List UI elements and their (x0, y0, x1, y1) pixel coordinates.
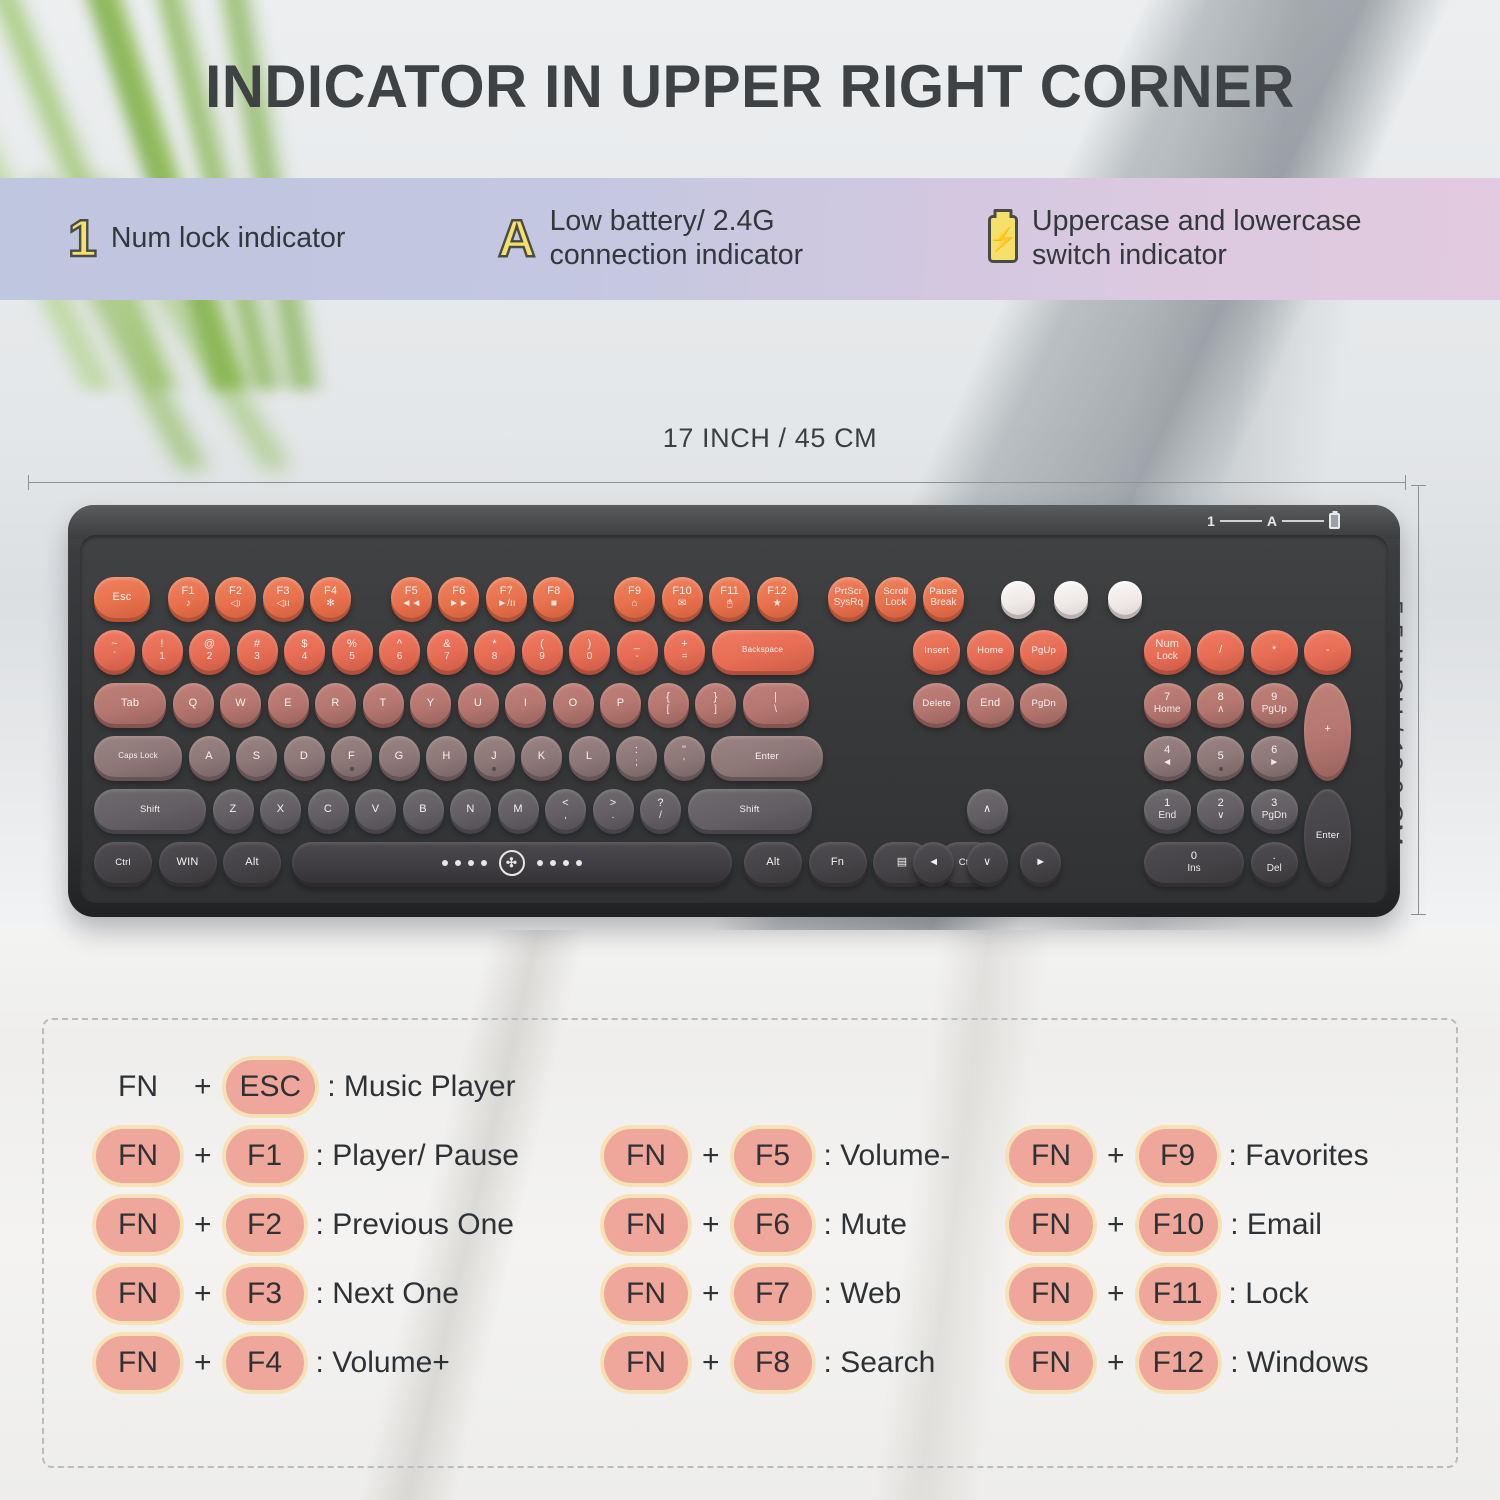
key-label: Z (230, 804, 237, 816)
legend-target-key: F5 (734, 1129, 812, 1183)
key-delete[interactable]: Delete (913, 683, 960, 724)
legend-fn-key: FN (604, 1267, 688, 1321)
legend-plus-sign: + (702, 1346, 720, 1380)
key-label: 8 (1218, 692, 1224, 704)
key-label: + (681, 639, 688, 651)
key-c[interactable]: C (308, 789, 349, 830)
legend-fn-key: FN (1009, 1129, 1093, 1183)
key-label: H (442, 751, 450, 763)
key-sublabel: ►► (449, 599, 469, 610)
key-m[interactable]: M (498, 789, 539, 830)
key-5[interactable]: 5 (1197, 736, 1244, 777)
key-label: G (395, 751, 404, 763)
key-label: Pause (929, 587, 957, 597)
legend-fn-key: FN (96, 1060, 180, 1114)
key-[interactable]: >. (593, 789, 634, 830)
key-v[interactable]: V (355, 789, 396, 830)
letter-a-icon: A (498, 213, 536, 265)
legend-description: : Lock (1229, 1277, 1309, 1311)
indicator-battery-line1: Low battery/ 2.4G (550, 205, 804, 239)
legend-target-key: F7 (734, 1267, 812, 1321)
key-sublabel: 9 (539, 652, 545, 663)
legend-column-2: FN+F5: Volume-FN+F6: MuteFN+F7: WebFN+F8… (604, 1121, 950, 1397)
key-label: Num (1155, 639, 1179, 651)
key-k[interactable]: K (521, 736, 562, 777)
legend-target-key: ESC (226, 1060, 316, 1114)
key-label: < (562, 798, 569, 810)
key-label: : (635, 745, 638, 757)
key-home[interactable]: Home (967, 630, 1014, 671)
key-label: ! (160, 639, 163, 651)
key-[interactable]: "' (664, 736, 705, 777)
key-label: ~ (111, 639, 118, 651)
key-caps-lock[interactable]: Caps Lock (94, 736, 182, 777)
key-sublabel: , (564, 811, 567, 822)
key-f8[interactable]: F8■ (533, 577, 574, 618)
key-x[interactable]: X (260, 789, 301, 830)
marking-battery-icon (1329, 513, 1340, 529)
key-label: M (513, 804, 522, 816)
key-label: 6 (1271, 745, 1277, 757)
key-[interactable]: |\ (743, 683, 809, 724)
legend-plus-sign: + (194, 1277, 212, 1311)
legend-plus-sign: + (194, 1346, 212, 1380)
indicator-battery-label: Low battery/ 2.4G connection indicator (550, 205, 804, 272)
legend-description: : Favorites (1229, 1139, 1369, 1173)
key-label: L (586, 751, 592, 763)
key-[interactable]: )0 (569, 630, 610, 671)
key-[interactable]: &7 (427, 630, 468, 671)
key-enter[interactable]: Enter (1304, 789, 1351, 883)
key-label: F4 (324, 586, 337, 598)
key-f12[interactable]: F12★ (757, 577, 798, 618)
key-label: ^ (397, 639, 402, 651)
key-[interactable]: .Del (1251, 842, 1298, 883)
key-sublabel: [ (667, 705, 670, 716)
key-fn[interactable]: Fn (809, 842, 867, 883)
legend-row: FN+F6: Mute (604, 1190, 950, 1259)
key-f1[interactable]: F1♪ (168, 577, 209, 618)
key-prtscr[interactable]: PrtScrSysRq (828, 577, 869, 618)
legend-target-key: F8 (734, 1336, 812, 1390)
key-label: ► (1035, 857, 1046, 869)
key-label: ∧ (983, 804, 991, 816)
legend-description: : Mute (824, 1208, 907, 1242)
key-label: Shift (140, 805, 160, 815)
key-p[interactable]: P (600, 683, 641, 724)
legend-plus-sign: + (702, 1139, 720, 1173)
key-pause[interactable]: PauseBreak (923, 577, 964, 618)
indicator-led-3 (1108, 581, 1142, 615)
key-sublabel: ◄◄ (401, 599, 421, 610)
legend-target-key: F1 (226, 1129, 304, 1183)
key-sublabel: PgUp (1262, 705, 1287, 716)
key-win[interactable]: WIN (159, 842, 217, 883)
key-label: K (538, 751, 546, 763)
key-label: Shift (739, 805, 759, 815)
key-[interactable]: <, (545, 789, 586, 830)
legend-column-3: FN+F9: FavoritesFN+F10: EmailFN+F11: Loc… (1009, 1121, 1369, 1397)
legend-fn-key: FN (1009, 1336, 1093, 1390)
width-dimension-line (28, 482, 1406, 483)
key-8[interactable]: 8∧ (1197, 683, 1244, 724)
key-label: Ctrl (115, 858, 131, 868)
key-label: 3 (1271, 798, 1277, 810)
key-sublabel: End (1158, 811, 1176, 822)
key-sublabel: ; (635, 758, 638, 769)
key-sublabel: ] (714, 705, 717, 716)
key-sublabel: ■ (551, 599, 557, 610)
key-label: 4 (1164, 745, 1170, 757)
key-esc[interactable]: Esc (94, 577, 150, 618)
key-g[interactable]: G (379, 736, 420, 777)
key-alt[interactable]: Alt (223, 842, 281, 883)
key-sublabel: Lock (1157, 652, 1178, 663)
key-label: P (617, 698, 625, 710)
legend-plus-sign: + (1107, 1277, 1125, 1311)
legend-fn-key: FN (1009, 1267, 1093, 1321)
key-label: T (380, 698, 387, 710)
legend-description: : Search (824, 1346, 936, 1380)
key-7[interactable]: 7Home (1144, 683, 1191, 724)
indicator-led-1 (1001, 581, 1035, 615)
key-label: I (524, 698, 527, 710)
legend-target-key: F6 (734, 1198, 812, 1252)
key-label: F (348, 751, 355, 763)
key-u[interactable]: U (458, 683, 499, 724)
key-label: % (347, 639, 357, 651)
key-sublabel: ► (1269, 758, 1279, 769)
key-e[interactable]: E (268, 683, 309, 724)
key-label: F10 (672, 586, 692, 598)
key-pgup[interactable]: PgUp (1020, 630, 1067, 671)
indicator-case-line2: switch indicator (1032, 239, 1362, 273)
key-label: Home (977, 646, 1003, 656)
key-0[interactable]: 0Ins (1144, 842, 1245, 883)
legend-plus-sign: + (194, 1208, 212, 1242)
key-[interactable]: %5 (332, 630, 373, 671)
key-[interactable]: @2 (189, 630, 230, 671)
key-6[interactable]: 6► (1251, 736, 1298, 777)
legend-description: : Volume+ (316, 1346, 450, 1380)
key-[interactable]: !1 (142, 630, 183, 671)
key-[interactable]: $4 (284, 630, 325, 671)
legend-row: FN+F1: Player/ Pause (96, 1121, 519, 1190)
key-[interactable]: :; (616, 736, 657, 777)
key-[interactable]: ► (1020, 842, 1061, 883)
key-label: S (253, 751, 261, 763)
key-alt[interactable]: Alt (744, 842, 802, 883)
key-sublabel: ✻ (326, 599, 334, 610)
key-[interactable]: ∨ (967, 842, 1008, 883)
key-enter[interactable]: Enter (711, 736, 823, 777)
key-sublabel: ' (683, 758, 685, 769)
key-[interactable]: ^6 (379, 630, 420, 671)
key-[interactable]: + (1304, 683, 1351, 777)
legend-plus-sign: + (702, 1208, 720, 1242)
key-label: > (610, 798, 617, 810)
indicator-legend-strip: 1 Num lock indicator A Low battery/ 2.4G… (0, 178, 1500, 300)
key-[interactable]: * (1251, 630, 1298, 671)
key-[interactable]: / (1197, 630, 1244, 671)
key-label: PgUp (1031, 646, 1056, 656)
indicator-numlock-line1: Num lock indicator (111, 222, 345, 254)
legend-target-key: F9 (1139, 1129, 1217, 1183)
key-label: F9 (628, 586, 641, 598)
key-sublabel: ` (113, 652, 116, 663)
key-f3[interactable]: F3◁ıı (263, 577, 304, 618)
key-[interactable]: ◄ (913, 842, 954, 883)
key-z[interactable]: Z (213, 789, 254, 830)
key-[interactable]: ?/ (640, 789, 681, 830)
keyboard-product-image: 1 A EscF1♪F2◁ıF3◁ııF4✻F5◄◄F6►►F7►/ııF8■F… (68, 505, 1400, 917)
keyboard-key-well: EscF1♪F2◁ıF3◁ııF4✻F5◄◄F6►►F7►/ııF8■F9⌂F1… (80, 535, 1388, 903)
key-sublabel: - (635, 652, 638, 663)
legend-plus-sign: + (194, 1070, 212, 1104)
legend-row: FN+F10: Email (1009, 1190, 1369, 1259)
key-sublabel: SysRq (834, 598, 863, 609)
key-f11[interactable]: F11🖰 (709, 577, 750, 618)
key-1[interactable]: 1End (1144, 789, 1191, 830)
key-label: Enter (755, 752, 779, 762)
key-[interactable]: - (1304, 630, 1351, 671)
legend-fn-key: FN (1009, 1198, 1093, 1252)
key-sublabel: Break (930, 598, 956, 609)
key-sublabel: ◁ı (230, 599, 240, 610)
key-end[interactable]: End (967, 683, 1014, 724)
key-[interactable]: ~` (94, 630, 135, 671)
marking-divider-2 (1282, 520, 1324, 522)
key-label: ? (657, 798, 663, 810)
key-[interactable]: *8 (474, 630, 515, 671)
key-spacebar[interactable]: ✣ (292, 842, 732, 883)
key-w[interactable]: W (220, 683, 261, 724)
key-sublabel: ★ (773, 599, 782, 610)
legend-fn-key: FN (96, 1129, 180, 1183)
legend-plus-sign: + (1107, 1139, 1125, 1173)
legend-row: FN+F5: Volume- (604, 1121, 950, 1190)
key-l[interactable]: L (569, 736, 610, 777)
key-[interactable]: += (664, 630, 705, 671)
key-i[interactable]: I (505, 683, 546, 724)
key-s[interactable]: S (236, 736, 277, 777)
marking-capslock: A (1267, 513, 1277, 529)
key-label: . (1273, 851, 1276, 863)
key-sublabel: ◁ıı (277, 599, 290, 610)
legend-plus-sign: + (194, 1139, 212, 1173)
key-pgdn[interactable]: PgDn (1020, 683, 1067, 724)
key-label: Delete (922, 699, 951, 709)
key-[interactable]: {[ (648, 683, 689, 724)
key-label: ) (588, 639, 592, 651)
key-ctrl[interactable]: Ctrl (94, 842, 152, 883)
legend-description: : Next One (316, 1277, 459, 1311)
key-sublabel: Ins (1187, 864, 1200, 875)
key-label: 1 (1164, 798, 1170, 810)
legend-fn-key: FN (96, 1198, 180, 1252)
key-a[interactable]: A (189, 736, 230, 777)
key-label: ◄ (928, 857, 939, 869)
key-label: F1 (182, 586, 195, 598)
legend-row: FN+F3: Next One (96, 1259, 519, 1328)
key-label: F11 (720, 586, 739, 598)
indicator-battery-line2: connection indicator (550, 239, 804, 273)
key-sublabel: 5 (349, 652, 355, 663)
key-t[interactable]: T (363, 683, 404, 724)
key-f5[interactable]: F5◄◄ (391, 577, 432, 618)
indicator-case-label: Uppercase and lowercase switch indicator (1032, 205, 1362, 272)
key-[interactable]: _- (617, 630, 658, 671)
key-4[interactable]: 4◄ (1144, 736, 1191, 777)
key-sublabel: = (682, 652, 688, 663)
legend-target-key: F2 (226, 1198, 304, 1252)
legend-fn-key: FN (604, 1198, 688, 1252)
keyboard-status-markings: 1 A (1207, 513, 1340, 529)
key-h[interactable]: H (426, 736, 467, 777)
key-sublabel: Home (1154, 705, 1181, 716)
key-y[interactable]: Y (410, 683, 451, 724)
key-label: F12 (767, 586, 787, 598)
key-label: Scroll (883, 587, 908, 597)
key-label: PgDn (1031, 699, 1056, 709)
key-r[interactable]: R (315, 683, 356, 724)
key-f2[interactable]: F2◁ı (215, 577, 256, 618)
key-9[interactable]: 9PgUp (1251, 683, 1298, 724)
key-q[interactable]: Q (173, 683, 214, 724)
key-tab[interactable]: Tab (94, 683, 166, 724)
key-label: 2 (1218, 798, 1224, 810)
key-sublabel: ✉ (678, 599, 686, 610)
key-[interactable]: }] (695, 683, 736, 724)
legend-description: : Player/ Pause (316, 1139, 519, 1173)
key-label: 7 (1164, 692, 1170, 704)
marking-numlock: 1 (1207, 513, 1215, 529)
key-label: End (980, 698, 1000, 710)
legend-row: FN+F9: Favorites (1009, 1121, 1369, 1190)
key-f[interactable]: F (331, 736, 372, 777)
legend-row: FN+F2: Previous One (96, 1190, 519, 1259)
legend-description: : Windows (1230, 1346, 1368, 1380)
key-label: & (443, 639, 451, 651)
key-label: R (331, 698, 339, 710)
key-label: " (682, 745, 686, 757)
key-[interactable]: #3 (237, 630, 278, 671)
page-title: INDICATOR IN UPPER RIGHT CORNER (23, 52, 1478, 121)
key-label: N (466, 804, 474, 816)
key-f9[interactable]: F9⌂ (614, 577, 655, 618)
key-label: ∨ (983, 857, 991, 869)
key-label: / (1219, 645, 1222, 657)
key-sublabel: / (659, 811, 662, 822)
legend-description: : Volume- (824, 1139, 951, 1173)
key-label: X (277, 804, 285, 816)
key-f4[interactable]: F4✻ (310, 577, 351, 618)
key-label: F6 (452, 586, 465, 598)
spacebar-dots-right (537, 860, 582, 866)
key-label: A (205, 751, 213, 763)
legend-plus-sign: + (702, 1277, 720, 1311)
key-sublabel: . (612, 811, 615, 822)
key-f6[interactable]: F6►► (438, 577, 479, 618)
key-sublabel: ∧ (1217, 705, 1224, 716)
legend-plus-sign: + (1107, 1346, 1125, 1380)
key-label: F7 (500, 586, 513, 598)
legend-plus-sign: + (1107, 1208, 1125, 1242)
battery-bolt-icon: ⚡ (988, 215, 1018, 263)
key-b[interactable]: B (403, 789, 444, 830)
key-shift[interactable]: Shift (94, 789, 206, 830)
legend-row: FN+F4: Volume+ (96, 1328, 519, 1397)
key-sublabel: \ (774, 705, 777, 716)
key-label: ▤ (897, 857, 908, 869)
key-label: Insert (924, 646, 949, 656)
key-num[interactable]: NumLock (1144, 630, 1191, 671)
key-label: @ (204, 639, 215, 651)
key-label: V (372, 804, 380, 816)
width-dimension-label: 17 INCH / 45 CM (640, 423, 900, 454)
key-label: * (1272, 645, 1276, 657)
key-2[interactable]: 2∨ (1197, 789, 1244, 830)
key-j[interactable]: J (474, 736, 515, 777)
key-sublabel: 3 (254, 652, 260, 663)
legend-fn-key: FN (604, 1129, 688, 1183)
legend-fn-key: FN (604, 1336, 688, 1390)
key-label: { (666, 692, 670, 704)
key-f10[interactable]: F10✉ (662, 577, 703, 618)
legend-fn-key: FN (96, 1267, 180, 1321)
key-label: 5 (1218, 751, 1224, 763)
spacebar-dots-left (442, 860, 487, 866)
key-[interactable]: (9 (522, 630, 563, 671)
key-label: * (492, 639, 496, 651)
key-insert[interactable]: Insert (913, 630, 960, 671)
legend-description: : Web (824, 1277, 902, 1311)
keyboard-top-bezel (68, 505, 1400, 539)
key-label: Enter (1316, 831, 1340, 841)
indicator-numlock-label: Num lock indicator (111, 222, 345, 256)
key-label: C (324, 804, 332, 816)
legend-description: : Music Player (327, 1070, 515, 1104)
key-d[interactable]: D (284, 736, 325, 777)
key-o[interactable]: O (553, 683, 594, 724)
key-sublabel: 8 (492, 652, 498, 663)
key-label: F2 (229, 586, 242, 598)
key-3[interactable]: 3PgDn (1251, 789, 1298, 830)
legend-target-key: F12 (1139, 1336, 1219, 1390)
indicator-led-2 (1054, 581, 1088, 615)
key-label: + (1324, 724, 1331, 736)
key-[interactable]: ∧ (967, 789, 1008, 830)
legend-target-key: F4 (226, 1336, 304, 1390)
key-sublabel: ⌂ (632, 599, 638, 610)
legend-description: : Email (1230, 1208, 1322, 1242)
key-scroll[interactable]: ScrollLock (875, 577, 916, 618)
key-f7[interactable]: F7►/ıı (486, 577, 527, 618)
key-backspace[interactable]: Backspace (712, 630, 814, 671)
marking-divider-1 (1220, 520, 1262, 522)
key-sublabel: PgDn (1262, 811, 1287, 822)
key-sublabel: Del (1267, 864, 1282, 875)
key-label: ( (540, 639, 544, 651)
key-shift[interactable]: Shift (688, 789, 812, 830)
key-sublabel: ∨ (1217, 811, 1224, 822)
key-label: F8 (547, 586, 560, 598)
key-n[interactable]: N (450, 789, 491, 830)
key-label: - (1326, 645, 1330, 657)
key-label: _ (634, 639, 640, 651)
key-label: Y (427, 698, 435, 710)
key-sublabel: 7 (444, 652, 450, 663)
